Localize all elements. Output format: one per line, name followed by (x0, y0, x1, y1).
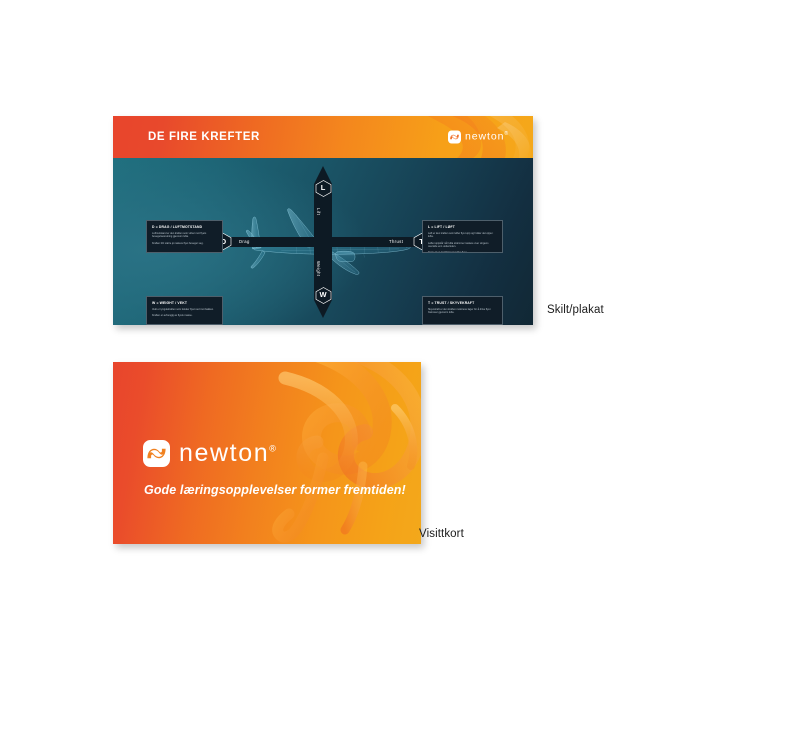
force-badge-lift: L (315, 180, 332, 197)
business-card-mockup: newton® Gode læringsopplevelser former f… (113, 362, 421, 544)
info-box-lift: L = LIFT / LØFT Løft er den kraften som … (422, 220, 503, 253)
force-label-weight: Weight (316, 261, 321, 276)
poster-mockup: DE FIRE KREFTER newton® (113, 116, 533, 325)
force-badge-weight-letter: W (319, 291, 326, 299)
info-box-lift-title: L = LIFT / LØFT (428, 225, 497, 229)
card-tagline: Gode læringsopplevelser former fremtiden… (144, 483, 406, 497)
info-box-drag-title: D = DRAG / LUFTMOTSTAND (152, 225, 217, 229)
card-logo: newton® (143, 440, 276, 467)
info-box-weight: W = WEIGHT / VEKT Vekt er tyngdekraften … (146, 296, 223, 325)
force-badge-weight: W (315, 287, 332, 304)
newton-wave-logo-icon (143, 440, 170, 467)
card-logo-wordmark: newton® (179, 441, 276, 466)
force-label-thrust: Thrust (389, 239, 403, 244)
info-box-weight-title: W = WEIGHT / VEKT (152, 301, 217, 305)
registered-mark: ® (269, 444, 276, 454)
info-box-thrust-title: T = TRUST / SKYVEKRAFT (428, 301, 497, 305)
info-box-drag-body: Luftmotstand er den kraften som virker m… (152, 232, 217, 246)
poster-title: DE FIRE KREFTER (148, 131, 260, 143)
caption-business-card: Visittkort (419, 528, 464, 540)
info-box-lift-body: Løft er den kraften som løfter flyet opp… (428, 232, 497, 253)
poster-header: DE FIRE KREFTER newton® (113, 116, 533, 158)
newton-wave-logo-icon (448, 131, 461, 144)
info-box-thrust-body: Skyvekraft er den kraften motorene lager… (428, 308, 497, 316)
poster-logo: newton® (448, 131, 508, 144)
force-badge-lift-letter: L (321, 184, 326, 192)
poster-logo-wordmark: newton® (465, 132, 508, 143)
info-box-drag: D = DRAG / LUFTMOTSTAND Luftmotstand er … (146, 220, 223, 253)
force-label-lift: Lift (316, 208, 321, 215)
registered-mark: ® (504, 131, 508, 137)
force-label-drag: Drag (239, 239, 250, 244)
four-forces-cross: L W D T Lift Weig (193, 166, 453, 318)
poster-body: L W D T Lift Weig (113, 158, 533, 325)
info-box-weight-body: Vekt er tyngdekraften som trekker flyet … (152, 308, 217, 318)
info-box-thrust: T = TRUST / SKYVEKRAFT Skyvekraft er den… (422, 296, 503, 325)
caption-poster: Skilt/plakat (547, 304, 604, 316)
